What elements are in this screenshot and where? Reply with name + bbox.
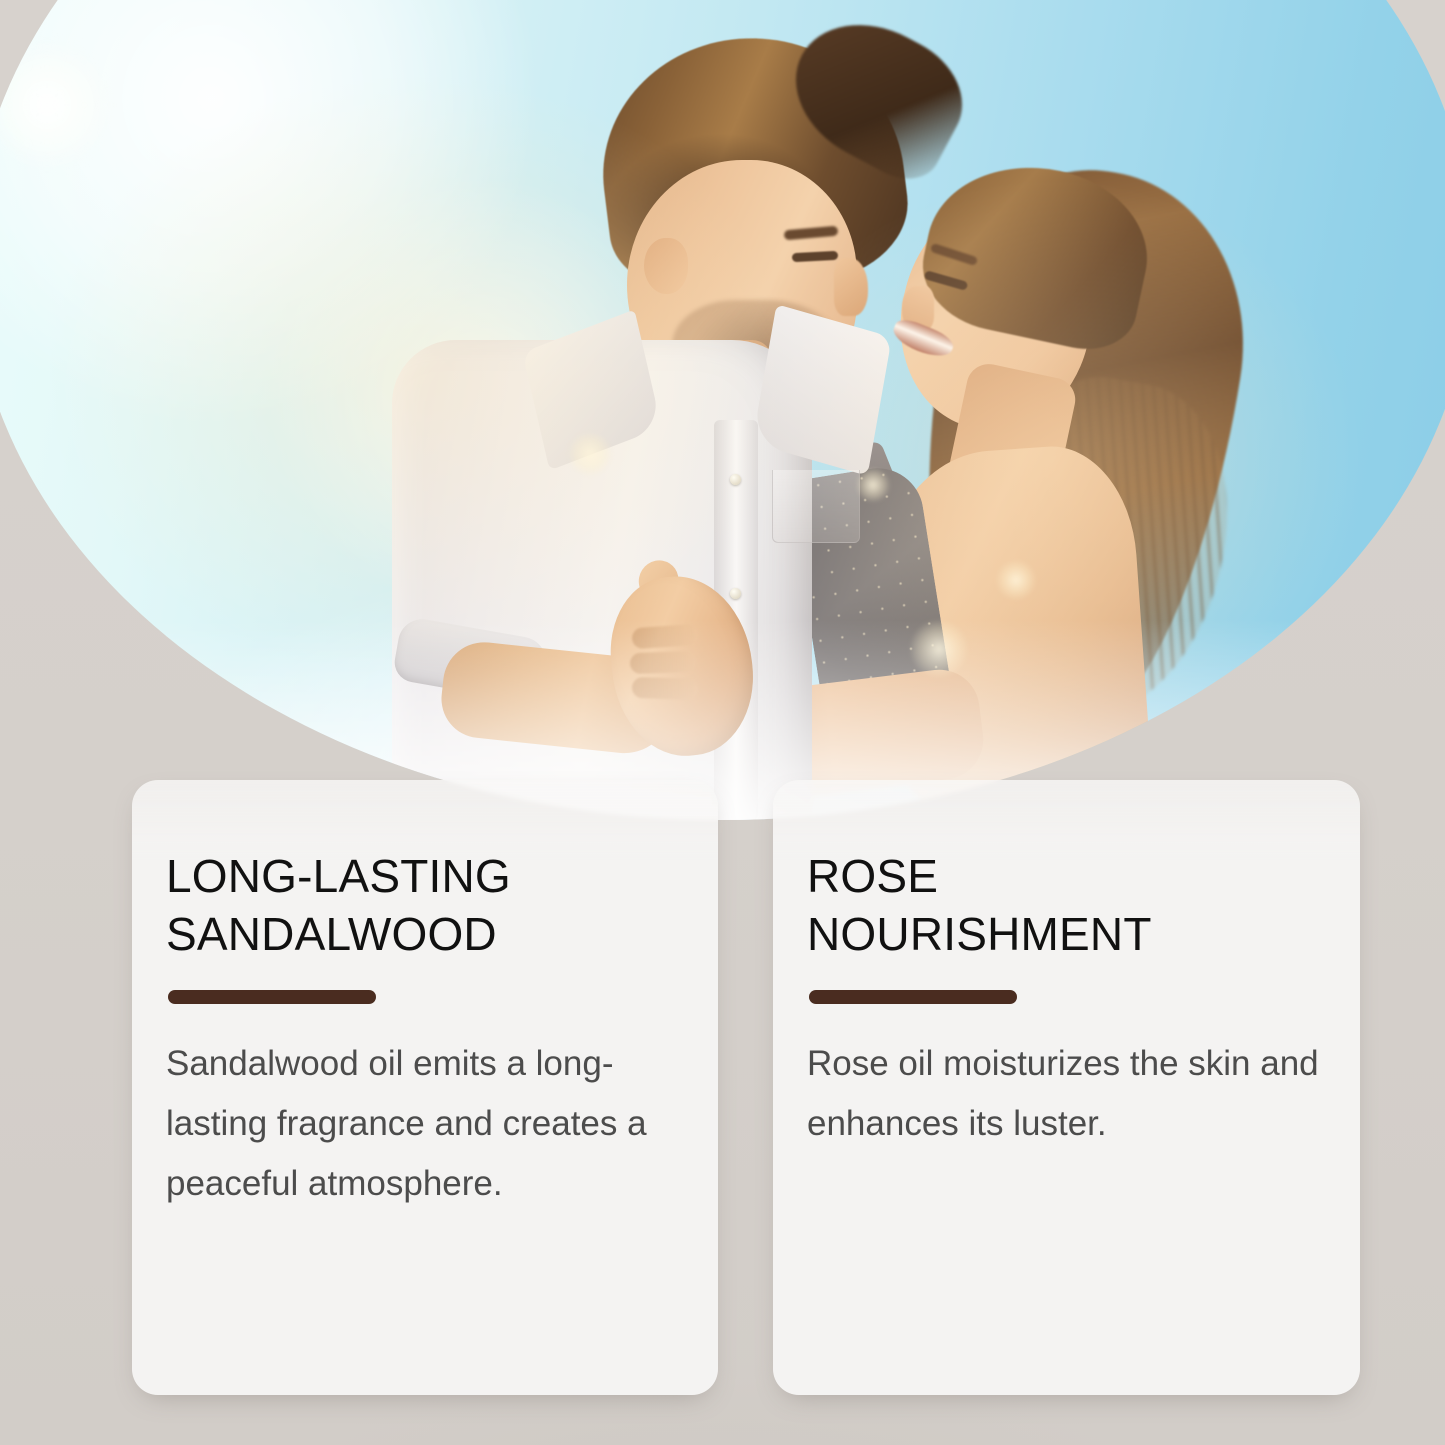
bokeh-highlight: [856, 468, 890, 502]
card-content: ROSE NOURISHMENT Rose oil moisturizes th…: [807, 848, 1330, 1154]
card-title: LONG-LASTING SANDALWOOD: [166, 848, 688, 964]
bokeh-highlight: [996, 560, 1036, 600]
card-content: LONG-LASTING SANDALWOOD Sandalwood oil e…: [166, 848, 688, 1214]
finger: [630, 651, 697, 674]
feature-card-rose[interactable]: ROSE NOURISHMENT Rose oil moisturizes th…: [773, 780, 1360, 1395]
couple-figures: [0, 0, 1445, 820]
man-shirt-pocket: [772, 470, 860, 543]
card-description: Rose oil moisturizes the skin and enhanc…: [807, 1034, 1330, 1154]
hero-photo-medallion: [0, 0, 1445, 820]
feature-card-sandalwood[interactable]: LONG-LASTING SANDALWOOD Sandalwood oil e…: [132, 780, 718, 1395]
card-description: Sandalwood oil emits a long-lasting frag…: [166, 1034, 688, 1215]
man-ear: [644, 238, 688, 294]
hero-photo: [0, 0, 1445, 820]
shirt-button: [730, 588, 741, 599]
bokeh-highlight: [568, 432, 612, 476]
man-nose: [834, 258, 868, 316]
shirt-button: [730, 474, 741, 485]
product-feature-banner: LONG-LASTING SANDALWOOD Sandalwood oil e…: [0, 0, 1445, 1445]
bokeh-highlight: [910, 620, 968, 678]
accent-divider: [809, 990, 1017, 1004]
card-title: ROSE NOURISHMENT: [807, 848, 1330, 964]
accent-divider: [168, 990, 376, 1004]
finger: [632, 677, 699, 700]
